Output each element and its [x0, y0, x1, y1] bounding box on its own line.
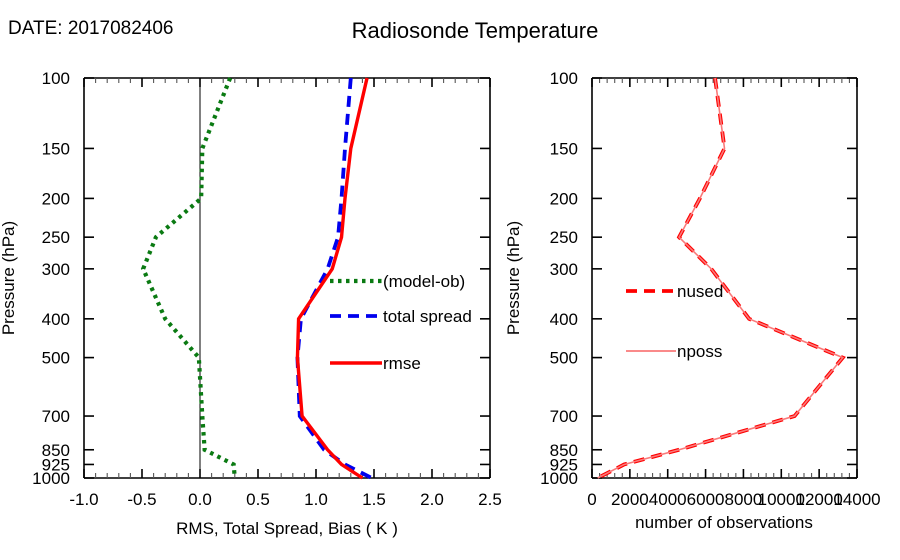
y-tick-label: 500	[42, 349, 70, 368]
y-tick-label: 400	[550, 310, 578, 329]
series-line-rmse	[297, 78, 367, 478]
x-tick-label: 0.0	[188, 490, 212, 509]
x-tick-label: 2.5	[478, 490, 502, 509]
y-tick-label: 300	[550, 260, 578, 279]
x-tick-label: -1.0	[69, 490, 98, 509]
legend-label-modelob: (model-ob)	[383, 272, 465, 291]
x-tick-label: 4000	[649, 490, 687, 509]
series-line-modelob	[143, 78, 235, 478]
legend-label-totalspread: total spread	[383, 307, 472, 326]
x-tick-label: -0.5	[127, 490, 156, 509]
legend-label-nposs: nposs	[677, 342, 722, 361]
y-tick-label: 150	[42, 139, 70, 158]
right-panel-legend: nusednposs	[626, 282, 723, 361]
y-tick-label: 250	[550, 228, 578, 247]
y-tick-label: 150	[550, 139, 578, 158]
series-line-nused	[598, 78, 843, 478]
y-tick-label: 250	[42, 228, 70, 247]
x-tick-label: 1.0	[304, 490, 328, 509]
y-tick-label: 400	[42, 310, 70, 329]
x-tick-label: 1.5	[362, 490, 386, 509]
left-x-axis-title: RMS, Total Spread, Bias ( K )	[176, 519, 398, 538]
x-tick-label: 0.5	[246, 490, 270, 509]
y-tick-label: 200	[550, 189, 578, 208]
radiosonde-figure: DATE: 2017082406 Radiosonde Temperature …	[0, 0, 900, 560]
x-tick-label: 2.0	[420, 490, 444, 509]
right-y-axis-title: Pressure (hPa)	[504, 221, 523, 335]
y-tick-label: 200	[42, 189, 70, 208]
figure-canvas: DATE: 2017082406 Radiosonde Temperature …	[0, 0, 900, 560]
legend-label-rmse: rmse	[383, 354, 421, 373]
y-tick-label: 700	[550, 407, 578, 426]
legend-label-nused: nused	[677, 282, 723, 301]
x-tick-label: 0	[587, 490, 596, 509]
left-panel-legend: (model-ob)total spreadrmse	[330, 272, 472, 373]
series-line-totalspread	[297, 78, 371, 478]
series-line-nposs	[598, 78, 843, 478]
y-tick-label: 1000	[540, 469, 578, 488]
y-tick-label: 100	[42, 69, 70, 88]
date-label: DATE: 2017082406	[8, 18, 174, 39]
right-x-axis-title: number of observations	[635, 513, 813, 532]
x-tick-label: 6000	[687, 490, 725, 509]
x-tick-label: 2000	[611, 490, 649, 509]
y-tick-label: 700	[42, 407, 70, 426]
y-tick-label: 100	[550, 69, 578, 88]
figure-title: Radiosonde Temperature	[352, 18, 599, 43]
y-tick-label: 300	[42, 260, 70, 279]
x-tick-label: 14000	[833, 490, 880, 509]
y-tick-label: 1000	[32, 469, 70, 488]
y-tick-label: 500	[550, 349, 578, 368]
left-y-axis-title: Pressure (hPa)	[0, 221, 18, 335]
